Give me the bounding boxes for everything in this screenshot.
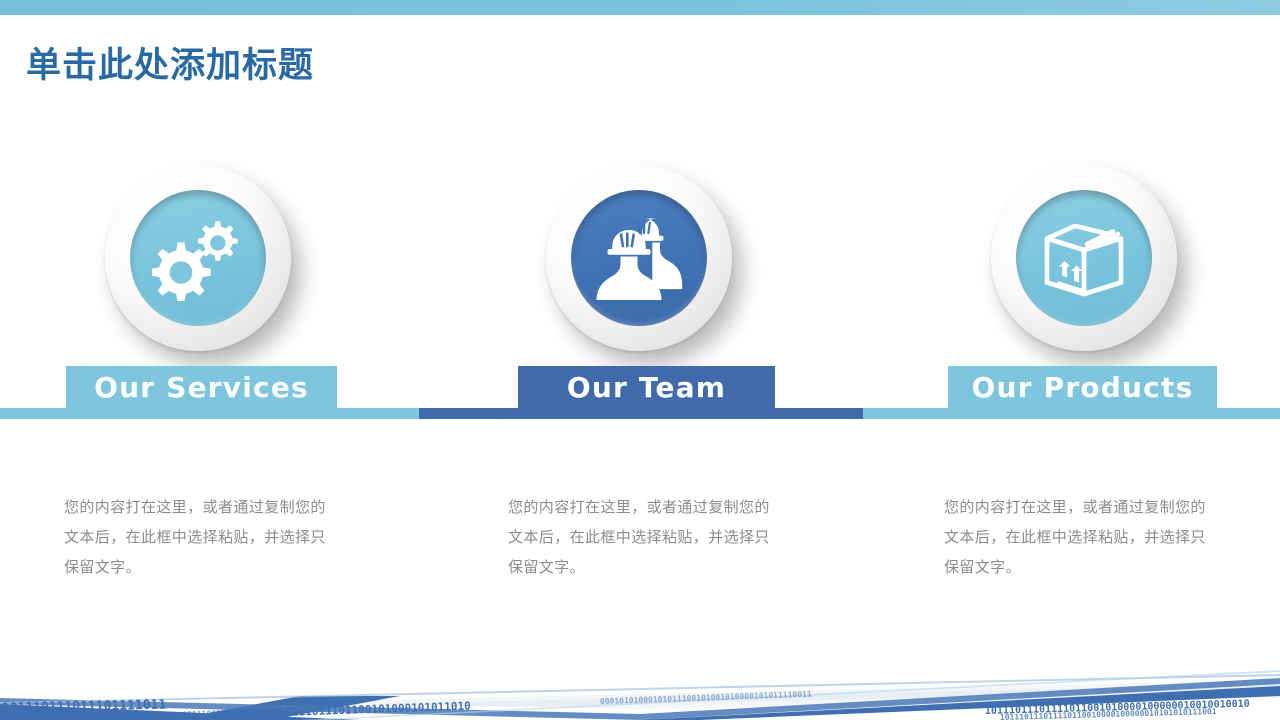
badge-inner-disc bbox=[571, 190, 707, 326]
workers-team-icon bbox=[591, 216, 687, 300]
body-text-services: 您的内容打在这里，或者通过复制您的文本后，在此框中选择粘贴，并选择只保留文字。 bbox=[64, 492, 339, 582]
body-text-team: 您的内容打在这里，或者通过复制您的文本后，在此框中选择粘贴，并选择只保留文字。 bbox=[508, 492, 783, 582]
badge-inner-disc bbox=[1016, 190, 1152, 326]
slide-canvas: 单击此处添加标题 bbox=[0, 0, 1280, 720]
caption-label: Our Services bbox=[94, 371, 309, 404]
package-box-icon bbox=[1041, 216, 1127, 300]
body-text-products: 您的内容打在这里，或者通过复制您的文本后，在此框中选择粘贴，并选择只保留文字。 bbox=[944, 492, 1219, 582]
caption-label: Our Products bbox=[972, 371, 1194, 404]
gears-icon bbox=[152, 215, 244, 301]
divider-strip-dark bbox=[419, 408, 863, 419]
badge-circle-services[interactable] bbox=[105, 165, 291, 351]
caption-label: Our Team bbox=[567, 371, 726, 404]
caption-band-products[interactable]: Our Products bbox=[948, 366, 1217, 409]
badge-inner-disc bbox=[130, 190, 266, 326]
badge-circle-team[interactable] bbox=[546, 165, 732, 351]
bottom-decoration: 101110111011101111011 101110111011101110… bbox=[0, 668, 1280, 720]
badge-circle-products[interactable] bbox=[991, 165, 1177, 351]
page-title: 单击此处添加标题 bbox=[26, 37, 314, 88]
top-accent-bar bbox=[0, 0, 1280, 15]
caption-band-services[interactable]: Our Services bbox=[66, 366, 337, 409]
caption-band-team[interactable]: Our Team bbox=[518, 366, 775, 409]
